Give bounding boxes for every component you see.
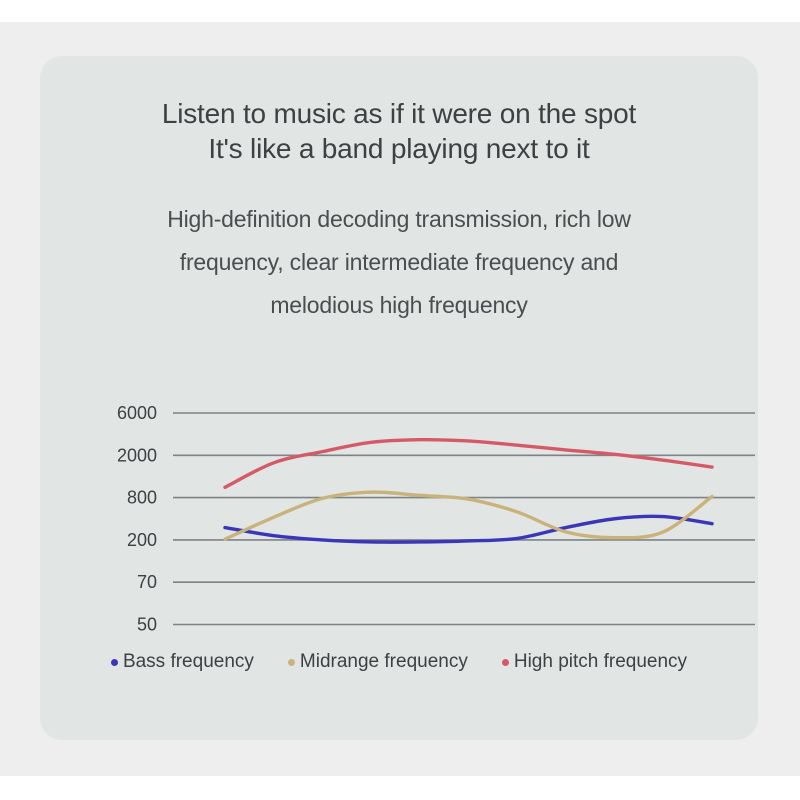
y-axis-tick-2000: 2000 [117,445,157,465]
legend-dot-icon [502,659,509,666]
y-axis-tick-50: 50 [137,615,157,633]
frequency-response-chart: 60002000800200705030 [40,292,758,632]
legend-label: High pitch frequency [514,651,687,673]
y-axis-tick-labels: 60002000800200705030 [117,403,157,632]
legend-label: Midrange frequency [300,651,468,673]
legend-dot-icon [111,659,118,666]
subheadline-line-1: High-definition decoding transmission, r… [104,198,694,241]
legend-item-midrange-frequency[interactable]: Midrange frequency [288,651,468,673]
subheadline-line-2: frequency, clear intermediate frequency … [104,241,694,284]
legend-item-high-pitch-frequency[interactable]: High pitch frequency [502,651,687,673]
series-line-high-pitch-frequency [225,440,712,488]
y-axis-tick-200: 200 [127,530,157,550]
screenshot-root: Listen to music as if it were on the spo… [0,0,800,800]
y-axis-tick-70: 70 [137,572,157,592]
y-axis-tick-800: 800 [127,488,157,508]
headline-line-1: Listen to music as if it were on the spo… [162,98,636,129]
legend-dot-icon [288,659,295,666]
product-feature-card: Listen to music as if it were on the spo… [40,56,758,740]
chart-legend: Bass frequencyMidrange frequencyHigh pit… [40,651,758,673]
legend-item-bass-frequency[interactable]: Bass frequency [111,651,254,673]
y-axis-tick-6000: 6000 [117,403,157,423]
headline: Listen to music as if it were on the spo… [40,96,758,166]
headline-line-2: It's like a band playing next to it [40,131,758,166]
chart-svg: 60002000800200705030 [40,292,758,632]
legend-label: Bass frequency [123,651,254,673]
